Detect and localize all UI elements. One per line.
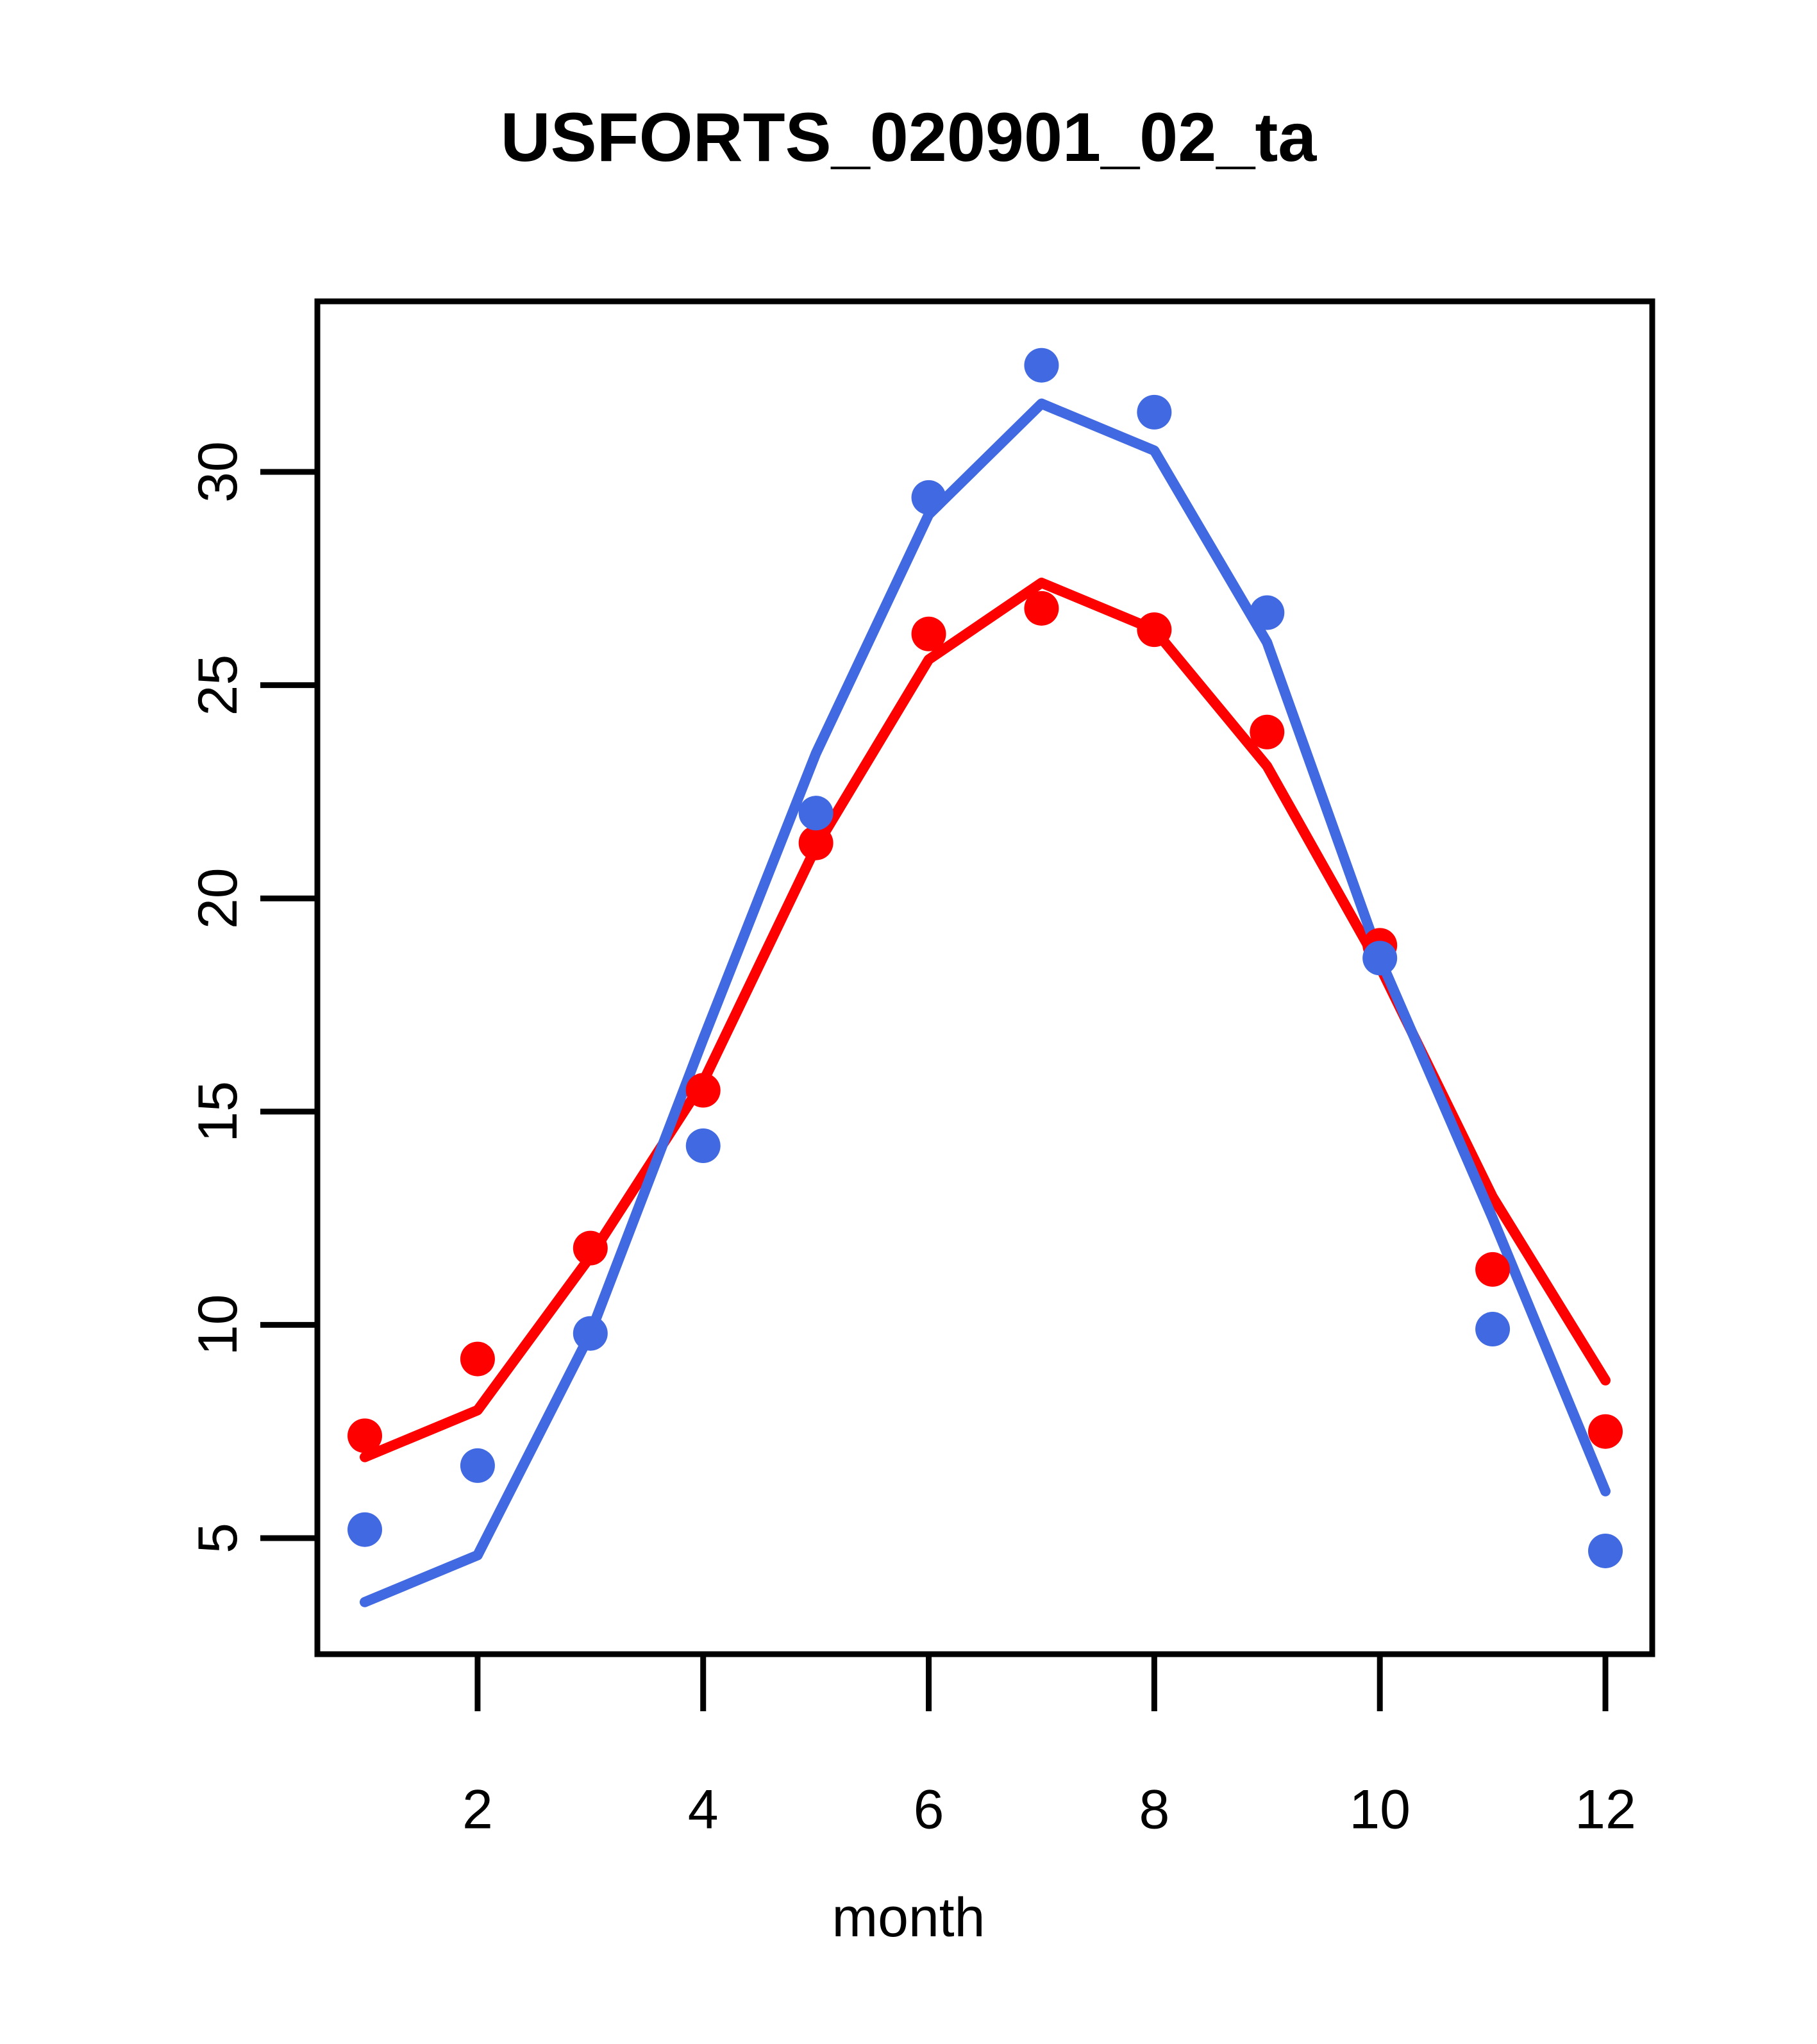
data-point bbox=[460, 1448, 495, 1483]
data-point bbox=[1588, 1534, 1623, 1568]
data-point bbox=[799, 826, 833, 860]
x-tick-label: 2 bbox=[462, 1779, 493, 1841]
data-point bbox=[1250, 715, 1284, 750]
data-point bbox=[686, 1128, 721, 1163]
x-tick-label: 12 bbox=[1575, 1779, 1636, 1841]
data-point bbox=[799, 796, 833, 830]
x-axis-ticks bbox=[478, 1654, 1605, 1711]
y-tick-label: 30 bbox=[187, 441, 249, 503]
x-axis-tick-labels: 24681012 bbox=[462, 1779, 1636, 1841]
data-point bbox=[1475, 1312, 1510, 1346]
y-tick-label: 15 bbox=[187, 1081, 249, 1143]
x-tick-label: 10 bbox=[1349, 1779, 1411, 1841]
data-point bbox=[1362, 941, 1397, 975]
y-tick-label: 10 bbox=[187, 1294, 249, 1356]
x-axis-label: month bbox=[0, 1885, 1817, 1951]
data-point bbox=[1024, 348, 1059, 383]
y-tick-label: 25 bbox=[187, 655, 249, 716]
data-point bbox=[686, 1073, 721, 1108]
data-point bbox=[1475, 1252, 1510, 1287]
y-axis-tick-labels: 51015202530 bbox=[187, 441, 249, 1554]
plot-box bbox=[317, 301, 1652, 1654]
data-point bbox=[460, 1342, 495, 1377]
plot-canvas: USFORTS_020901_02_ta 51015202530 2468101… bbox=[0, 0, 1817, 2044]
data-point bbox=[1137, 395, 1171, 430]
y-axis-ticks bbox=[260, 472, 317, 1538]
data-point bbox=[912, 617, 946, 651]
data-point bbox=[1588, 1414, 1623, 1449]
y-tick-label: 5 bbox=[187, 1523, 249, 1554]
data-point bbox=[1250, 596, 1284, 630]
data-point bbox=[573, 1231, 608, 1266]
data-series-layer bbox=[347, 348, 1623, 1602]
data-point bbox=[347, 1512, 382, 1547]
x-tick-label: 6 bbox=[914, 1779, 944, 1841]
data-point bbox=[573, 1316, 608, 1351]
data-point bbox=[1024, 591, 1059, 626]
data-point bbox=[347, 1418, 382, 1453]
series-line-blue-line bbox=[365, 404, 1605, 1602]
series-line-red-line bbox=[365, 583, 1605, 1457]
chart-svg: 51015202530 24681012 bbox=[0, 0, 1817, 2044]
data-point bbox=[1137, 612, 1171, 647]
x-tick-label: 8 bbox=[1139, 1779, 1169, 1841]
data-point bbox=[912, 480, 946, 515]
y-tick-label: 20 bbox=[187, 867, 249, 929]
series-points-blue-points bbox=[347, 348, 1623, 1568]
plot-frame bbox=[317, 301, 1652, 1654]
x-tick-label: 4 bbox=[688, 1779, 719, 1841]
